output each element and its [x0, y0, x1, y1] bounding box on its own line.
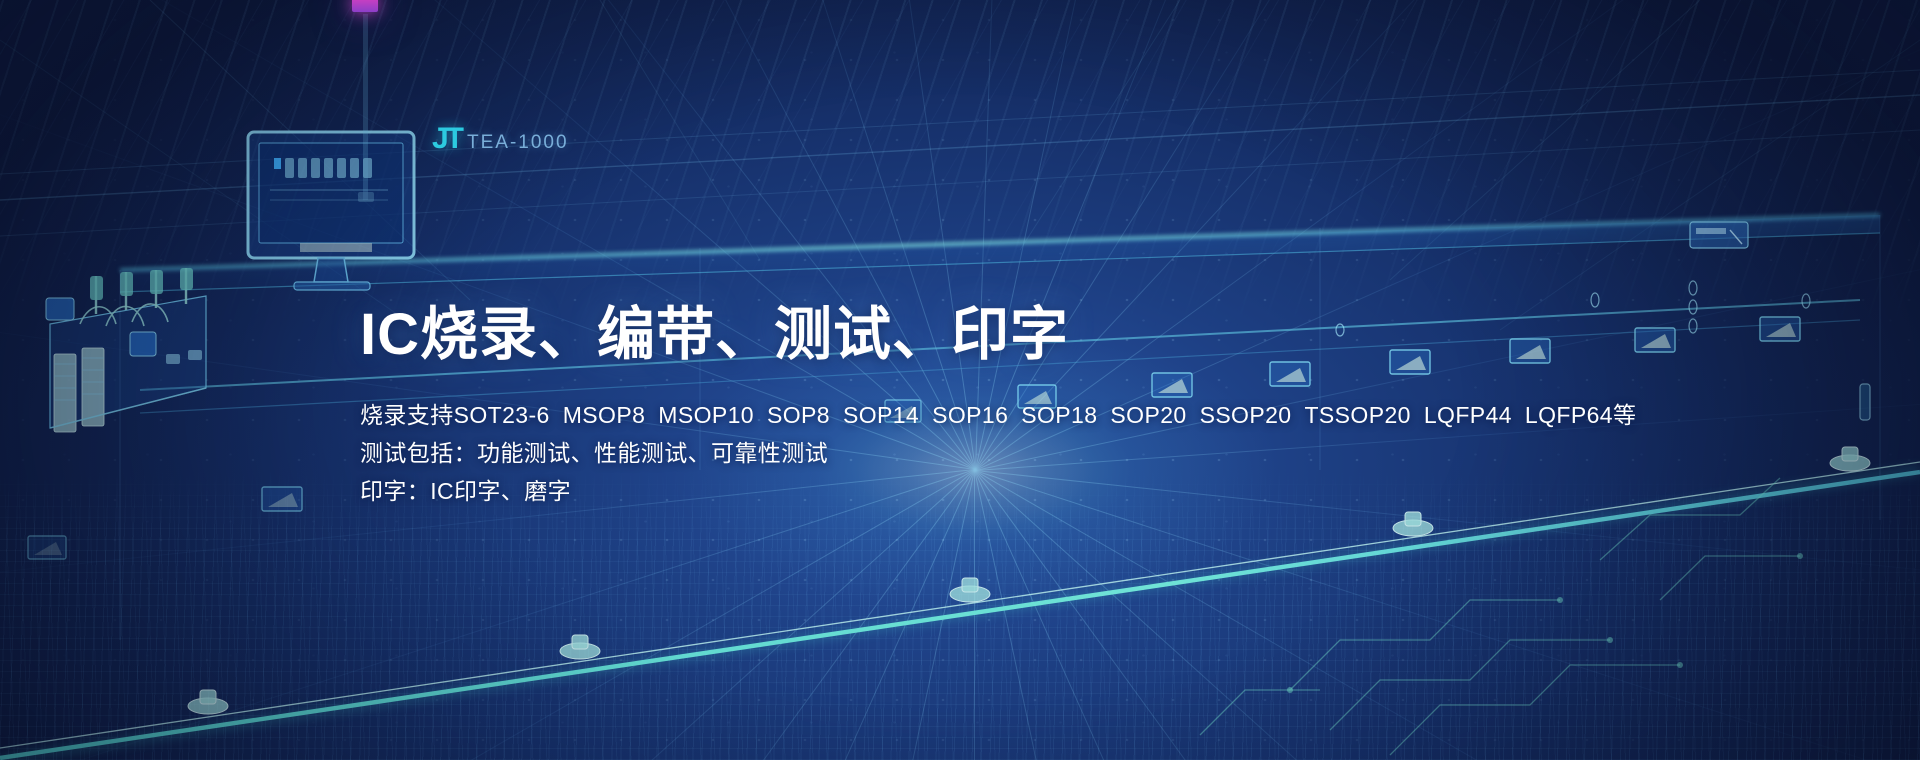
machine-brand-logo: JT TEA-1000 [432, 122, 569, 156]
subtitle-list: 烧录支持SOT23-6MSOP8MSOP10SOP8SOP14SOP16SOP1… [360, 404, 1660, 503]
machine-graphic [46, 268, 206, 432]
banner-content: IC烧录、编带、测试、印字 烧录支持SOT23-6MSOP8MSOP10SOP8… [360, 305, 1660, 503]
package-type-5: SOP16 [932, 402, 1008, 428]
package-type-1: MSOP8 [563, 402, 646, 428]
brand-model-text: TEA-1000 [467, 132, 569, 154]
package-type-7: SOP20 [1110, 402, 1186, 428]
package-type-11: LQFP64等 [1525, 402, 1636, 428]
package-type-0: SOT23-6 [454, 402, 550, 428]
package-type-6: SOP18 [1021, 402, 1097, 428]
brand-mark-text: JT [432, 122, 461, 156]
package-type-10: LQFP44 [1424, 402, 1512, 428]
burn-support-line: 烧录支持SOT23-6MSOP8MSOP10SOP8SOP14SOP16SOP1… [360, 404, 1660, 427]
package-type-2: MSOP10 [658, 402, 754, 428]
marking-scope-line: 印字：IC印字、磨字 [360, 480, 1660, 503]
package-type-9: TSSOP20 [1304, 402, 1410, 428]
test-scope-line: 测试包括：功能测试、性能测试、可靠性测试 [360, 442, 1660, 465]
package-type-4: SOP14 [843, 402, 919, 428]
page-title: IC烧录、编带、测试、印字 [360, 305, 1660, 366]
hero-banner: JT TEA-1000 IC烧录、编带、测试、印字 烧录支持SOT23-6MSO… [0, 0, 1920, 760]
magenta-indicator-light [352, 0, 378, 12]
package-type-3: SOP8 [767, 402, 830, 428]
package-type-8: SSOP20 [1200, 402, 1292, 428]
burn-support-prefix: 烧录支持 [360, 402, 454, 428]
